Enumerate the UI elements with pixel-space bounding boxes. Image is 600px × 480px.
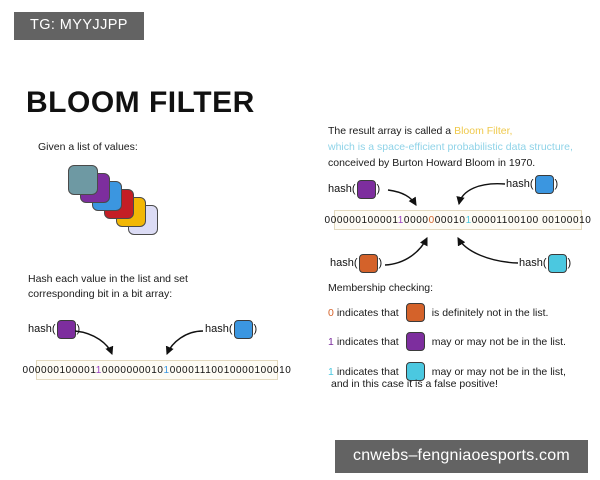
hash-swatch-blue [535,175,554,194]
hash-open-paren: hash( [506,179,534,190]
hash-label-right-purple: hash( ) [328,180,380,199]
membership-row-0: 0 indicates that is definitely not in th… [328,303,548,322]
hash-label-left-purple: hash( ) [28,320,80,339]
membership-digit: 1 [328,366,334,378]
bit-seg: 0000 [404,215,429,226]
bit-array-right: 00000010000110000000010100001100100 0010… [334,210,582,230]
hash-swatch-blue [234,320,253,339]
bit-array-left-bits: 0000001000011000000001010000111001000010… [23,365,292,376]
hash-open-paren: hash( [519,258,547,269]
hash-label-right-blue: hash( ) [506,175,558,194]
membership-text-after: may or may not be in the list. [432,336,566,348]
hash-label-left-blue: hash( ) [205,320,257,339]
intro-paragraph: The result array is called a Bloom Filte… [328,124,590,171]
hash-close-paren: ) [77,324,81,335]
caption-hash-each-value: Hash each value in the list and set corr… [28,272,278,302]
hash-label-right-orange: hash( ) [330,254,382,273]
intro-space-efficient-highlight: which is a space-efficient probabilistic… [328,141,573,153]
hash-swatch-purple [57,320,76,339]
caption-hash-line-2: corresponding bit in a bit array: [28,287,278,302]
membership-text-after: may or may not be in the list, [432,366,566,378]
hash-open-paren: hash( [28,324,56,335]
arrow-right-purple [388,190,416,205]
value-stack [68,165,158,237]
hash-close-paren: ) [379,258,383,269]
arrow-right-orange [385,238,427,265]
caption-given-values: Given a list of values: [38,140,138,155]
membership-checking-title: Membership checking: [328,282,433,294]
value-chip-slate [68,165,98,195]
watermark-bottom-site: cnwebs–fengniaoesports.com [335,440,588,473]
hash-close-paren: ) [254,324,258,335]
membership-swatch-orange [406,303,425,322]
hash-close-paren: ) [555,179,559,190]
bit-seg: 0000000010 [102,365,164,376]
intro-line1-plain: The result array is called a [328,125,454,137]
bit-seg: 00001110010000100010 [170,365,292,376]
membership-text-before: indicates that [337,336,399,348]
bit-array-right-bits: 00000010000110000000010100001100100 0010… [325,215,592,226]
hash-close-paren: ) [377,184,381,195]
membership-row-1: 1 indicates that may or may not be in th… [328,332,566,351]
bit-array-left: 0000001000011000000001010000111001000010… [36,360,278,380]
arrow-layer [0,0,600,480]
arrow-right-blue [459,184,505,204]
bit-seg: 000000100001 [325,215,398,226]
bit-seg: 00010 [435,215,466,226]
caption-hash-line-1: Hash each value in the list and set [28,272,278,287]
hash-swatch-purple [357,180,376,199]
arrow-left-purple [75,331,112,354]
hash-swatch-orange [359,254,378,273]
watermark-top-tag: TG: MYYJJPP [14,12,144,40]
bit-seg: 00001100100 00100010 [472,215,592,226]
arrow-right-cyan [458,238,518,263]
membership-digit: 1 [328,336,334,348]
membership-text-after: is definitely not in the list. [432,307,549,319]
hash-open-paren: hash( [328,184,356,195]
membership-text-before: indicates that [337,366,399,378]
membership-text-before: indicates that [337,307,399,319]
hash-open-paren: hash( [205,324,233,335]
intro-bloom-filter-highlight: Bloom Filter, [454,125,512,137]
hash-swatch-cyan [548,254,567,273]
membership-digit: 0 [328,307,334,319]
membership-false-positive-note: and in this case it is a false positive! [331,378,498,390]
arrow-left-blue [167,331,203,354]
intro-line3-plain: conceived by Burton Howard Bloom in 1970… [328,157,535,169]
page-title: BLOOM FILTER [26,88,255,118]
bit-seg: 000000100001 [23,365,96,376]
hash-open-paren: hash( [330,258,358,269]
slide-canvas: TG: MYYJJPP BLOOM FILTER Given a list of… [0,0,600,480]
membership-swatch-purple [406,332,425,351]
hash-close-paren: ) [568,258,572,269]
hash-label-right-cyan: hash( ) [519,254,571,273]
